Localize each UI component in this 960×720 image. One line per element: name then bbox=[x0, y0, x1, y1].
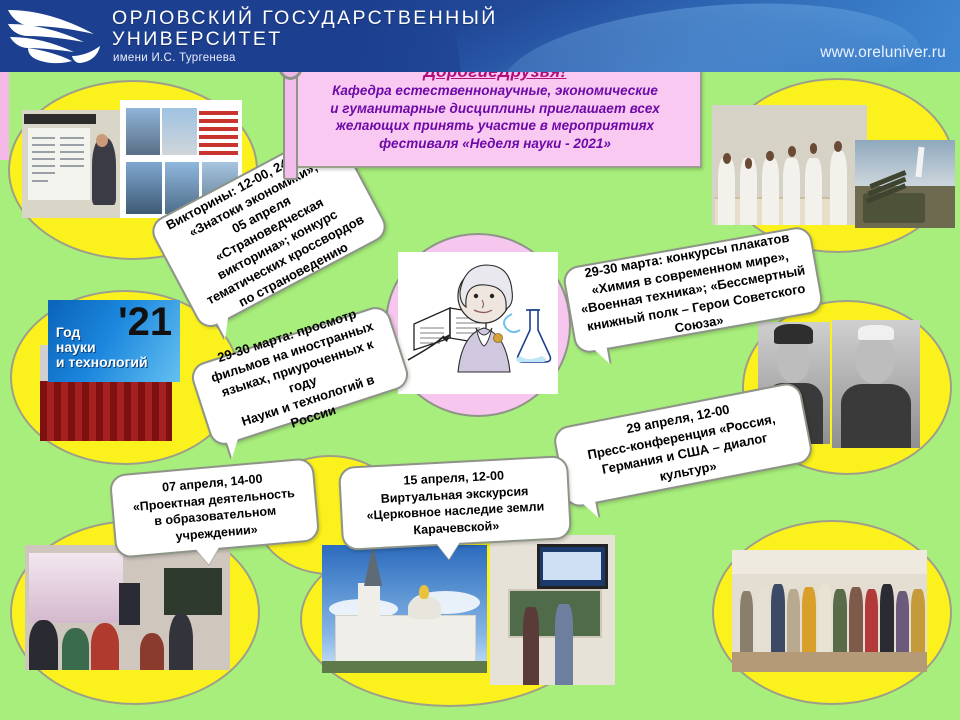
university-name-line-2: УНИВЕРСИТЕТ bbox=[112, 29, 498, 50]
photo-year-of-science-banner: '21 Год науки и технологий bbox=[48, 300, 180, 382]
callout-tail bbox=[436, 542, 461, 560]
center-lomonosov-illustration bbox=[398, 252, 558, 394]
year-of-science-line1: Год bbox=[56, 325, 148, 340]
virtual-excursion-callout: 15 апреля, 12-00 Виртуальная экскурсия «… bbox=[338, 455, 572, 551]
university-subtitle: имени И.С. Тургенева bbox=[113, 52, 236, 64]
photo-presentation-room bbox=[490, 535, 615, 685]
left-pink-strip bbox=[0, 72, 9, 160]
callout-tail bbox=[195, 547, 220, 566]
photo-chemistry-lab-students bbox=[712, 105, 867, 225]
banner-line-4: фестиваля «Неделя науки - 2021» bbox=[379, 136, 611, 151]
website-url[interactable]: www.oreluniver.ru bbox=[820, 44, 946, 62]
excursion-callout-line-4: Карачевской» bbox=[413, 518, 500, 536]
project-activity-callout: 07 апреля, 14-00 «Проектная деятельность… bbox=[109, 457, 321, 559]
photo-church-karachev bbox=[322, 545, 487, 673]
photo-military-missile-launcher bbox=[855, 140, 955, 228]
banner-line-3: желающих принять участие в мероприятиях bbox=[336, 118, 654, 133]
announcement-banner: ДорогиеДрузья! Кафедра естественнонаучны… bbox=[288, 56, 702, 168]
university-name-line-1: ОРЛОВСКИЙ ГОСУДАРСТВЕННЫЙ bbox=[112, 8, 498, 29]
banner-line-2: и гуманитарные дисциплины приглашает все… bbox=[330, 101, 659, 116]
photo-soldier-portrait-female bbox=[832, 320, 920, 448]
banner-line-1: Кафедра естественнонаучные, экономически… bbox=[332, 83, 658, 98]
callout-tail bbox=[594, 347, 610, 366]
press-conference-callout: 29 апреля, 12-00 Пресс-конференция «Росс… bbox=[551, 381, 814, 510]
photo-group-traditional-dress bbox=[732, 550, 927, 672]
lomonosov-icon bbox=[398, 252, 558, 394]
year-of-science-line3: и технологий bbox=[56, 355, 148, 370]
callout-tail bbox=[582, 501, 598, 520]
year-of-science-line2: науки bbox=[56, 340, 148, 355]
site-header: ОРЛОВСКИЙ ГОСУДАРСТВЕННЫЙ УНИВЕРСИТЕТ им… bbox=[0, 0, 960, 72]
poster-canvas: '21 Год науки и технологий bbox=[0, 0, 960, 720]
eagle-bird-logo-icon bbox=[6, 4, 116, 68]
